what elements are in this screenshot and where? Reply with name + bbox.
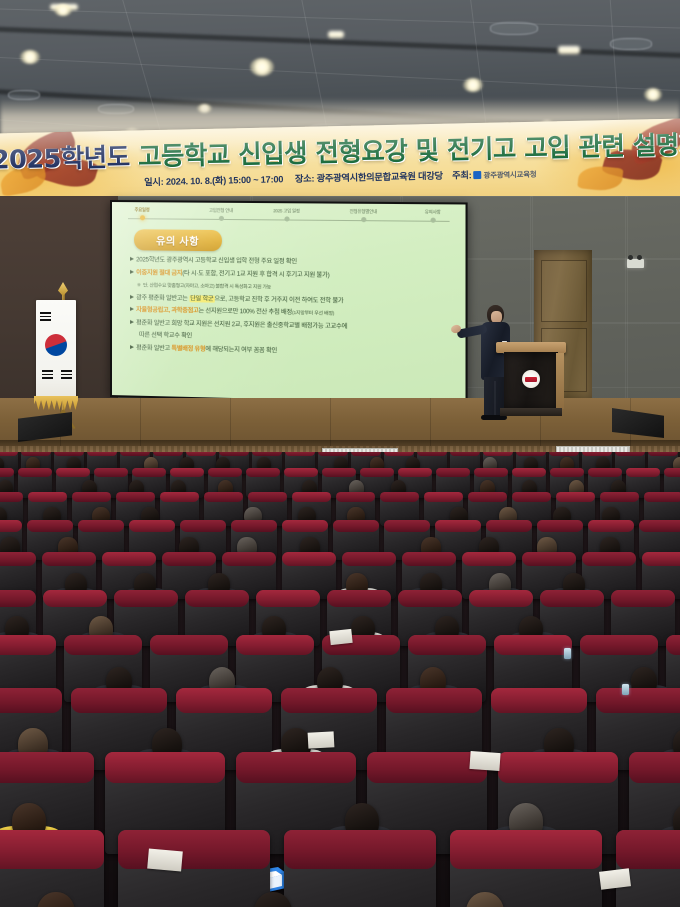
podium-body xyxy=(504,352,558,410)
podium xyxy=(500,342,562,414)
auditorium-seat xyxy=(118,830,270,907)
slide-content: 주요일정 고입전형 안내 2025 고입 일정 전형유형별안내 유의사항 유의 … xyxy=(112,202,466,404)
attendee-phone xyxy=(622,684,629,695)
ceiling-light xyxy=(328,31,344,38)
ceiling-vent xyxy=(610,38,652,50)
slide-nav-item-0: 주요일정 xyxy=(135,207,150,213)
auditorium-presentation-photo: 2025학년도 고등학교 신입생 전형요강 및 전기고 고입 관련 설명회 일시… xyxy=(0,0,680,907)
emergency-light-icon xyxy=(627,259,644,268)
handout-paper xyxy=(599,868,631,890)
bullet-triangle-icon: ▶ xyxy=(130,295,134,301)
slide-bullet-text: 광주 평준화 일반고는 단일 학군으로, 고등학교 진학 후 거주지 이전 하여… xyxy=(136,295,343,305)
slide-bullet-text: 단, 산업수요 맞춤형고(자마고, 소마고) 불합격 시 특성화고 지원 가능 xyxy=(143,283,271,291)
ceiling-light xyxy=(54,4,72,16)
podium-side xyxy=(556,353,564,409)
handout-paper xyxy=(147,849,183,872)
slide-bullet-text: 자율형공립고, 과학중점고는 선지원으로만 100% 전산 추첨 배정(1지망부… xyxy=(136,308,334,318)
banner-place: 장소: 광주광역시한의문합교육원 대강당 xyxy=(295,171,443,184)
banner-title-year: 2025학년도 xyxy=(0,142,138,175)
slide-bullet: 따른 선택 학교수 확인 xyxy=(139,333,456,346)
ceiling-light xyxy=(250,58,274,76)
slide-bullet-text: 따른 선택 학교수 확인 xyxy=(139,333,192,340)
slide-bullet-text: 평준화 일반고 특별배정 유형에 해당되는지 여부 꼼꼼 확인 xyxy=(136,346,277,355)
korean-flag-icon xyxy=(36,300,76,398)
slide-bullet: ※단, 산업수요 맞춤형고(자마고, 소마고) 불합격 시 특성화고 지원 가능 xyxy=(137,283,456,294)
slide-progress-nav: 주요일정 고입전형 안내 2025 고입 일정 전형유형별안내 유의사항 xyxy=(122,207,454,228)
slide-bullet: ▶평준화 일반고 특별배정 유형에 해당되는지 여부 꼼꼼 확인 xyxy=(130,345,456,358)
taeguk-symbol-icon xyxy=(45,334,67,356)
auditorium-seat xyxy=(284,830,436,907)
slide-nav-item-4: 유의사항 xyxy=(425,209,441,215)
ceiling xyxy=(0,0,680,140)
slide-bullet-text: 평준화 일반고 희망 학교 지원은 선지원 2교, 후지원은 출신중학교별 배정… xyxy=(136,320,347,330)
bullet-triangle-icon: ▶ xyxy=(130,345,134,351)
slide-bullet: ▶광주 평준화 일반고는 단일 학군으로, 고등학교 진학 후 거주지 이전 하… xyxy=(130,295,456,307)
ceiling-vent xyxy=(490,22,538,35)
podium-base xyxy=(500,408,562,416)
bullet-triangle-icon: ▶ xyxy=(130,257,134,263)
slide-nav-item-1: 고입전형 안내 xyxy=(209,208,233,214)
slide-bullet: ▶2025학년도 광주광역시 고등학교 신입생 입학 전형 주요 일정 확인 xyxy=(130,257,456,267)
host-logo-icon xyxy=(473,171,481,179)
attendee-phone xyxy=(564,648,571,659)
handout-paper xyxy=(469,751,500,771)
handout-paper xyxy=(329,629,352,645)
podium-emblem-icon xyxy=(522,370,540,388)
slide-bullet-text: 이중지원 절대 금지(타 시·도 포함, 전기고 1교 지원 후 합격 시 후기… xyxy=(136,270,329,279)
bullet-note-icon: ※ xyxy=(137,283,141,289)
ceiling-light xyxy=(558,46,580,54)
banner-host-label: 주최: xyxy=(452,170,472,180)
ceiling-light xyxy=(20,50,40,64)
slide-bullet-list: ▶2025학년도 광주광역시 고등학교 신입생 입학 전형 주요 일정 확인▶이… xyxy=(130,257,456,365)
handout-paper xyxy=(308,731,335,748)
slide-nav-item-3: 전형유형별안내 xyxy=(350,209,377,215)
ceiling-light xyxy=(463,78,483,92)
bullet-triangle-icon: ▶ xyxy=(130,270,134,276)
slide-bullet: ▶이중지원 절대 금지(타 시·도 포함, 전기고 1교 지원 후 합격 시 후… xyxy=(130,270,456,281)
projection-screen: 주요일정 고입전형 안내 2025 고입 일정 전형유형별안내 유의사항 유의 … xyxy=(110,200,468,406)
slide-nav-item-2: 2025 고입 일정 xyxy=(273,208,300,214)
bullet-triangle-icon: ▶ xyxy=(130,308,134,314)
slide-title: 유의 사항 xyxy=(134,229,222,251)
audience-seating xyxy=(0,452,680,907)
banner-host-name: 광주광역시교육청 xyxy=(483,170,536,180)
slide-bullet: ▶평준화 일반고 희망 학교 지원은 선지원 2교, 후지원은 출신중학교별 배… xyxy=(130,320,456,332)
slide-bullet-text: 2025학년도 광주광역시 고등학교 신입생 입학 전형 주요 일정 확인 xyxy=(136,257,297,265)
banner-date: 일시: 2024. 10. 8.(화) 15:00 ~ 17:00 xyxy=(144,174,283,187)
slide-bullet: ▶자율형공립고, 과학중점고는 선지원으로만 100% 전산 추첨 배정(1지망… xyxy=(130,308,456,320)
bullet-triangle-icon: ▶ xyxy=(130,320,134,326)
